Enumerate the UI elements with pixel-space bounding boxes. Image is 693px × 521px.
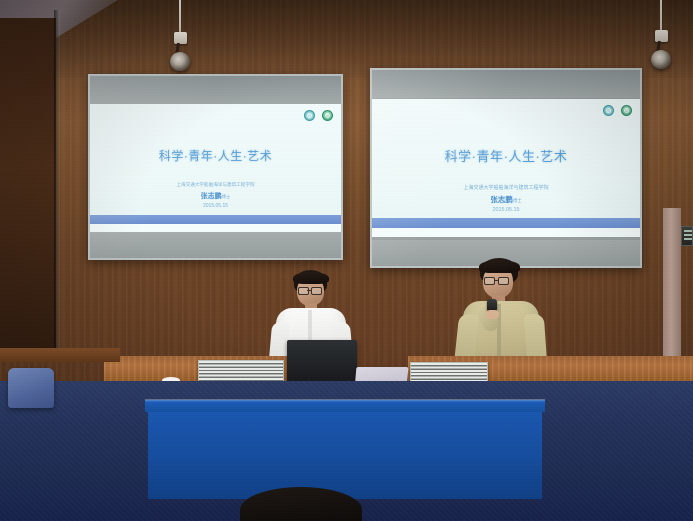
wall-mounted-sign — [681, 226, 693, 246]
glasses-icon — [298, 287, 324, 294]
blue-chair — [8, 368, 54, 408]
side-pillar — [663, 208, 681, 356]
glasses-icon — [484, 277, 512, 284]
table-edge-highlight-front — [145, 399, 545, 402]
lecture-hall-photo: 科学·青年·人生·艺术 上海交通大学船舶海洋与建筑工程学院 张志鹏博士 2015… — [0, 0, 693, 521]
wall-base-left — [0, 348, 120, 362]
hair-top — [479, 260, 520, 273]
presentation-table-front — [148, 411, 542, 499]
hand — [486, 310, 499, 319]
hair-top — [293, 272, 329, 284]
